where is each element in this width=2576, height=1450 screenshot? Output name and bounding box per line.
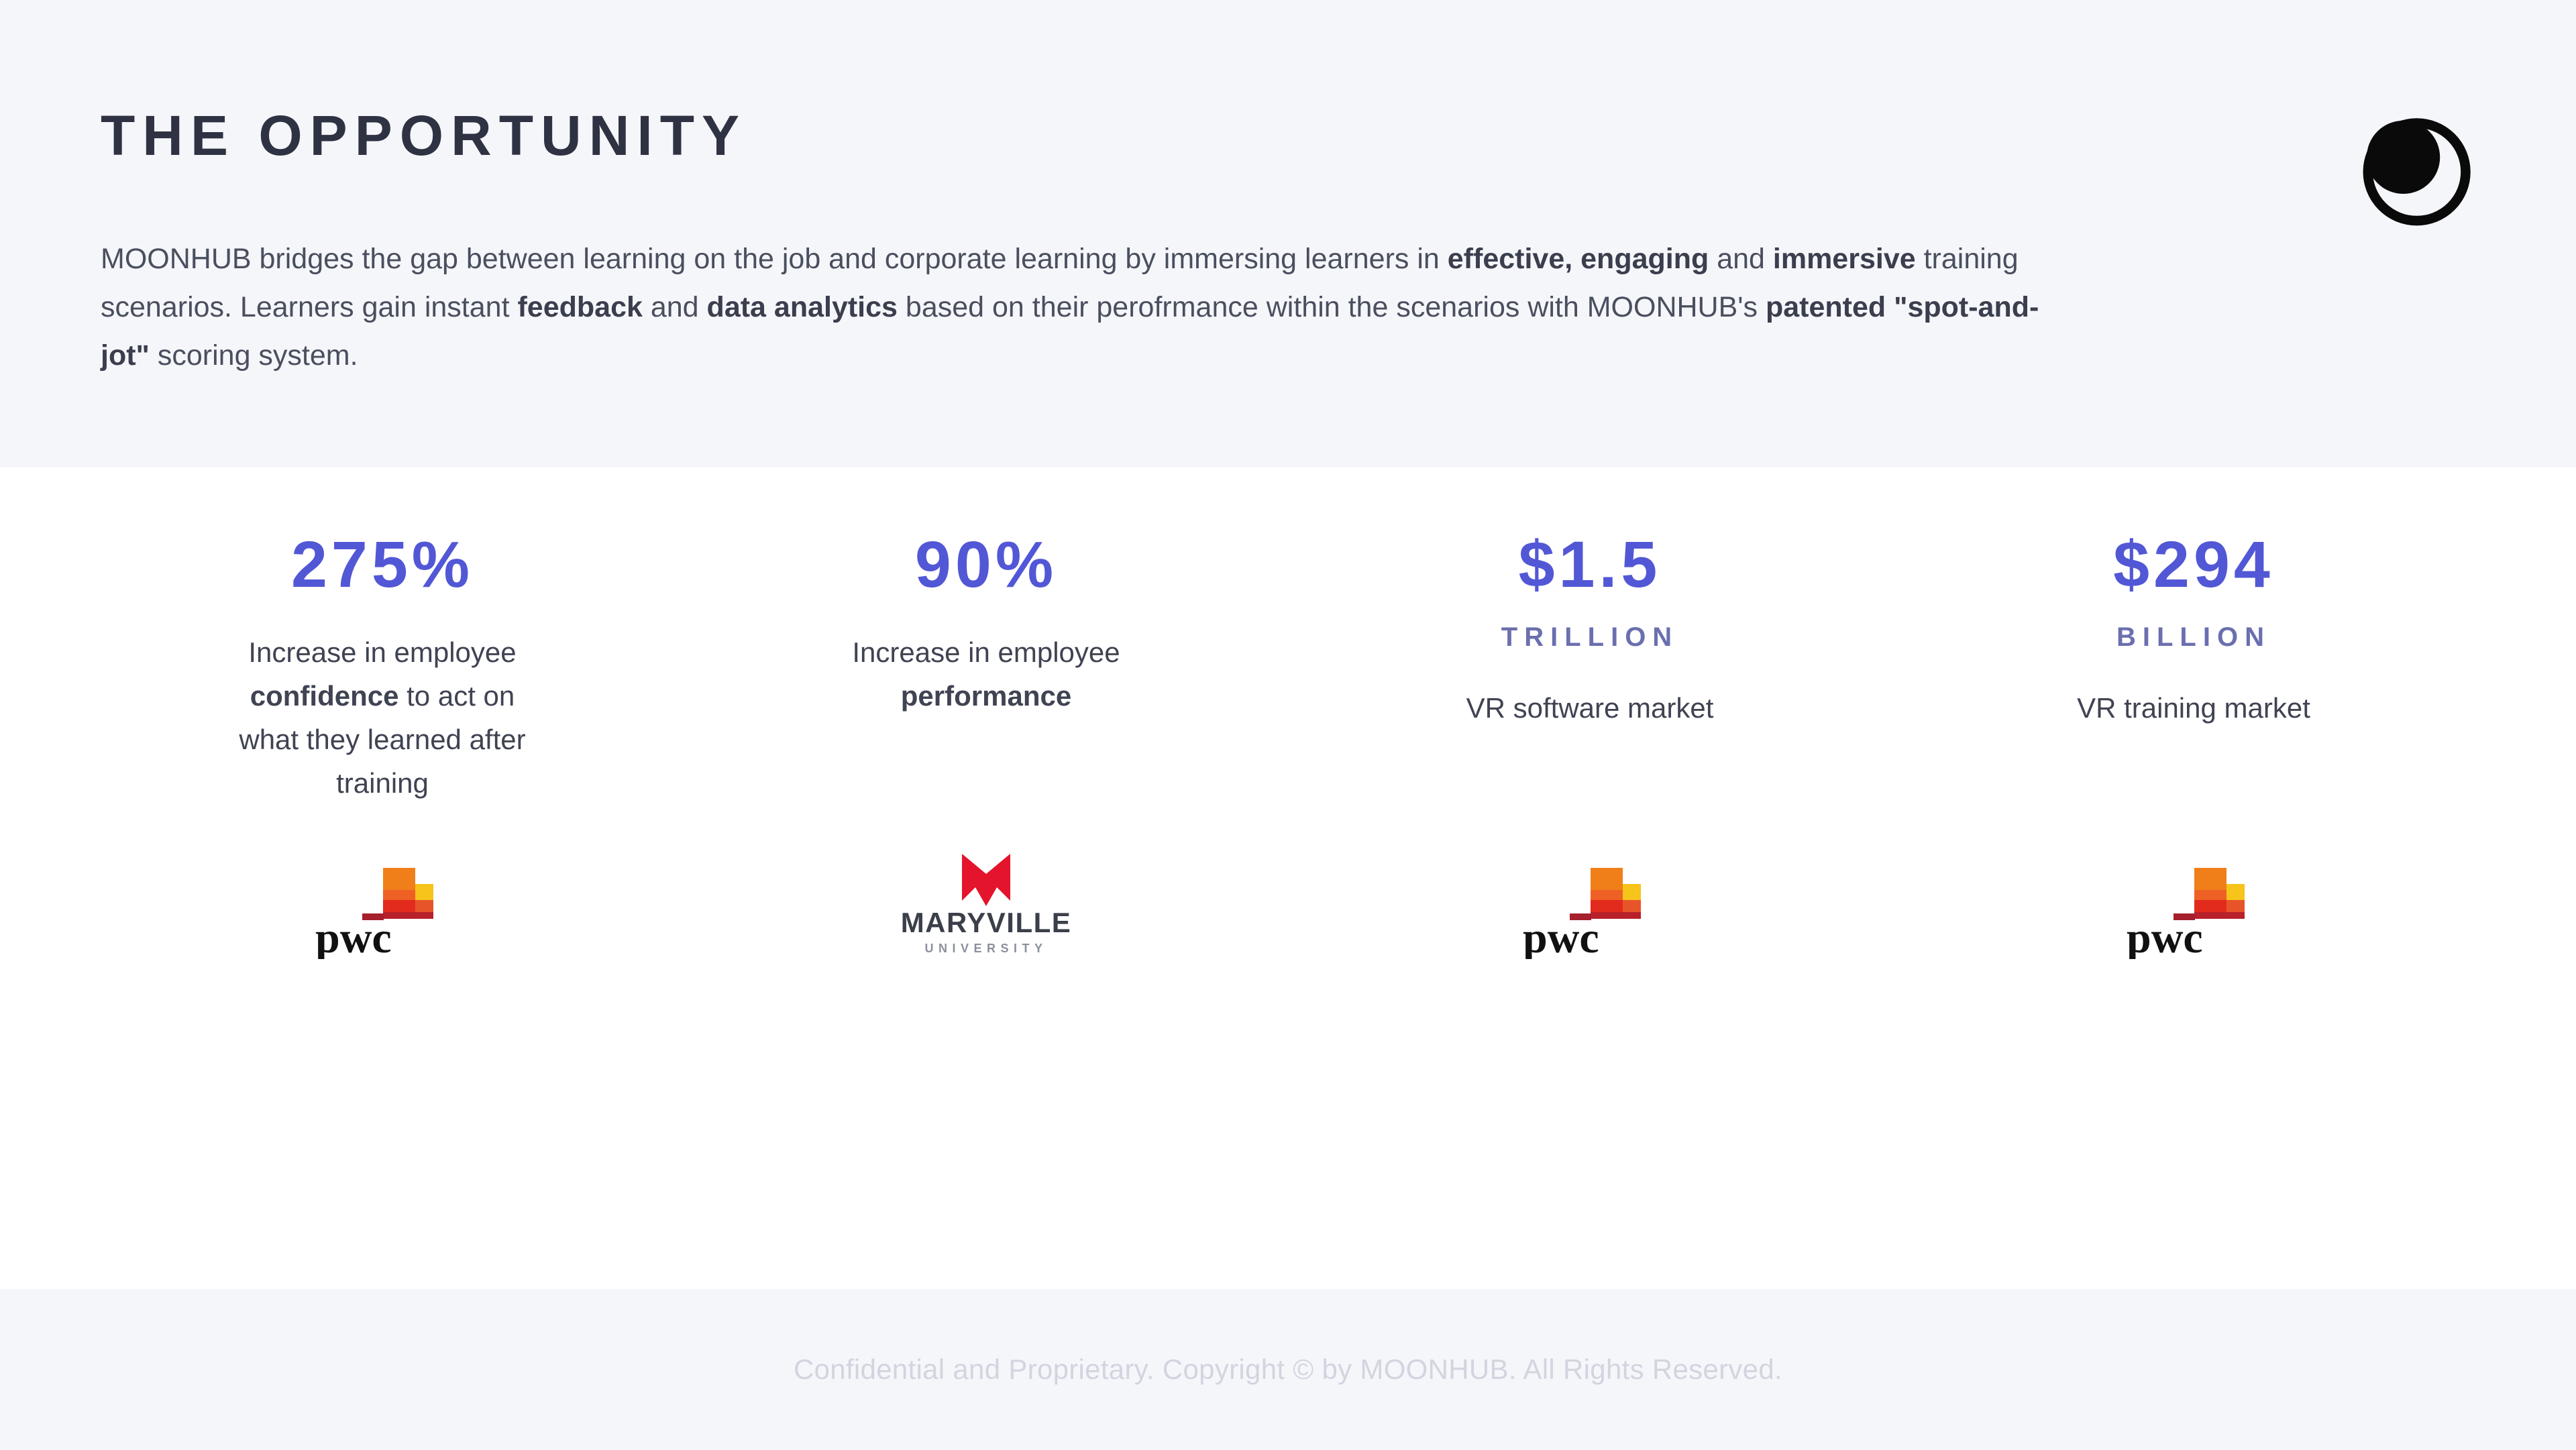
source-logo-pwc: pwc xyxy=(1521,805,1659,959)
footer-copyright: Confidential and Proprietary. Copyright … xyxy=(794,1353,1782,1386)
stat-description: VR training market xyxy=(2077,686,2310,730)
svg-text:pwc: pwc xyxy=(2127,913,2203,959)
emphasis: patented "spot-and-jot" xyxy=(101,291,2039,372)
stat-card: 90% Increase in employee performance MAR… xyxy=(684,532,1288,959)
footer-section: Confidential and Proprietary. Copyright … xyxy=(0,1289,2576,1450)
stat-card: 275% Increase in employee confidence to … xyxy=(80,532,684,959)
svg-text:pwc: pwc xyxy=(315,913,392,959)
source-logo-pwc: pwc xyxy=(314,805,451,959)
source-logo-pwc: pwc xyxy=(2125,805,2263,959)
emphasis: immersive xyxy=(1773,243,1916,275)
emphasis: performance xyxy=(901,680,1071,712)
svg-text:UNIVERSITY: UNIVERSITY xyxy=(924,942,1047,955)
moonhub-crescent-logo xyxy=(2353,106,2475,228)
emphasis: feedback xyxy=(517,291,642,323)
stat-description: Increase in employee confidence to act o… xyxy=(228,630,537,805)
stat-value: 275% xyxy=(291,532,474,597)
stat-card: $294 BILLION VR training market pwc xyxy=(1892,532,2495,959)
stat-value: $1.5 xyxy=(1519,532,1662,597)
intro-paragraph: MOONHUB bridges the gap between learning… xyxy=(101,235,2039,380)
emphasis: effective, engaging xyxy=(1448,243,1709,275)
stat-description: VR software market xyxy=(1466,686,1714,730)
stat-value: 90% xyxy=(915,532,1057,597)
stat-description: Increase in employee performance xyxy=(828,630,1144,718)
stats-section: 275% Increase in employee confidence to … xyxy=(0,467,2576,1289)
stats-grid: 275% Increase in employee confidence to … xyxy=(80,467,2495,959)
slide-root: THE OPPORTUNITY MOONHUB bridges the gap … xyxy=(0,0,2576,1450)
stat-unit: TRILLION xyxy=(1501,622,1678,653)
emphasis: data analytics xyxy=(707,291,898,323)
svg-text:pwc: pwc xyxy=(1523,913,1599,959)
stat-unit: BILLION xyxy=(2116,622,2271,653)
stat-value: $294 xyxy=(2113,532,2274,597)
stat-card: $1.5 TRILLION VR software market pwc xyxy=(1288,532,1892,959)
header-section: THE OPPORTUNITY MOONHUB bridges the gap … xyxy=(0,0,2576,467)
source-logo-maryville: MARYVILLE UNIVERSITY xyxy=(892,805,1080,959)
emphasis: confidence xyxy=(250,680,399,712)
svg-text:MARYVILLE: MARYVILLE xyxy=(901,907,1072,938)
page-title: THE OPPORTUNITY xyxy=(101,107,2475,164)
